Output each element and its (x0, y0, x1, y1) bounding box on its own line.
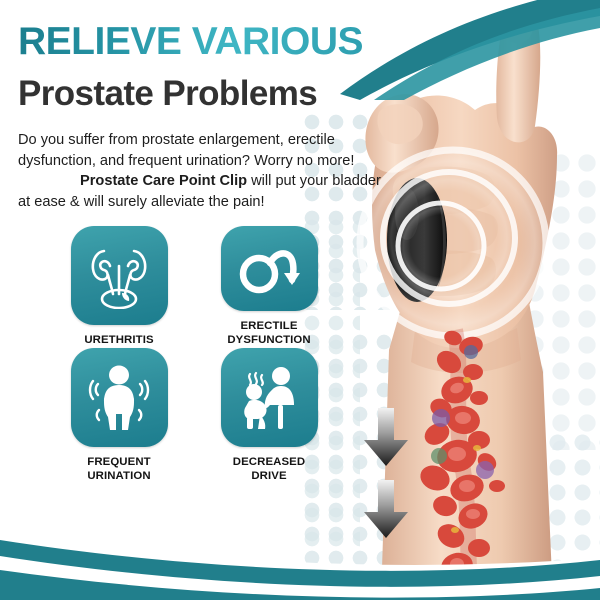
feature-label: FREQUENT URINATION (87, 456, 150, 484)
feature-label-line1: DECREASED (233, 456, 305, 470)
feature-icon-box (221, 226, 318, 311)
feature-icon-box (221, 348, 318, 447)
headline-primary: RELIEVE VARIOUS (18, 22, 363, 61)
advertisement-banner: RELIEVE VARIOUS Prostate Problems Do you… (0, 0, 600, 600)
feature-label-line2: DRIVE (233, 470, 305, 484)
feature-label-line1: FREQUENT (87, 456, 150, 470)
body-sentence-1: Do you suffer from prostate enlargement,… (18, 132, 354, 169)
feature-icon-box (71, 226, 168, 325)
feature-label: ERECTILE DYSFUNCTION (227, 320, 310, 348)
feature-item-erectile-dysfunction[interactable]: ERECTILE DYSFUNCTION (194, 226, 344, 348)
arrow-down-icon (364, 408, 408, 466)
headline-secondary: Prostate Problems (18, 76, 317, 111)
feature-icon-box (71, 348, 168, 447)
feature-label: DECREASED DRIVE (233, 456, 305, 484)
feature-label-line2: DYSFUNCTION (227, 334, 310, 348)
feature-grid: URETHRITIS ERECTILE DYSFUNCTION (44, 226, 344, 508)
couple-low-libido-icon (236, 365, 302, 431)
feature-label-line1: ERECTILE (227, 320, 310, 334)
arrow-down-icon (364, 480, 408, 538)
feature-item-decreased-drive[interactable]: DECREASED DRIVE (194, 348, 344, 508)
feature-label-line2: URINATION (87, 470, 150, 484)
body-copy: Do you suffer from prostate enlargement,… (18, 130, 393, 213)
feature-item-frequent-urination[interactable]: FREQUENT URINATION (44, 348, 194, 508)
feature-label: URETHRITIS (84, 334, 153, 348)
downward-arrows (360, 408, 412, 540)
product-name: Prostate Care Point Clip (80, 173, 247, 189)
feature-item-urethritis[interactable]: URETHRITIS (44, 226, 194, 348)
person-holding-bladder-icon (87, 364, 151, 432)
kidney-bladder-icon (88, 243, 150, 309)
male-symbol-drooping-icon (237, 240, 301, 298)
